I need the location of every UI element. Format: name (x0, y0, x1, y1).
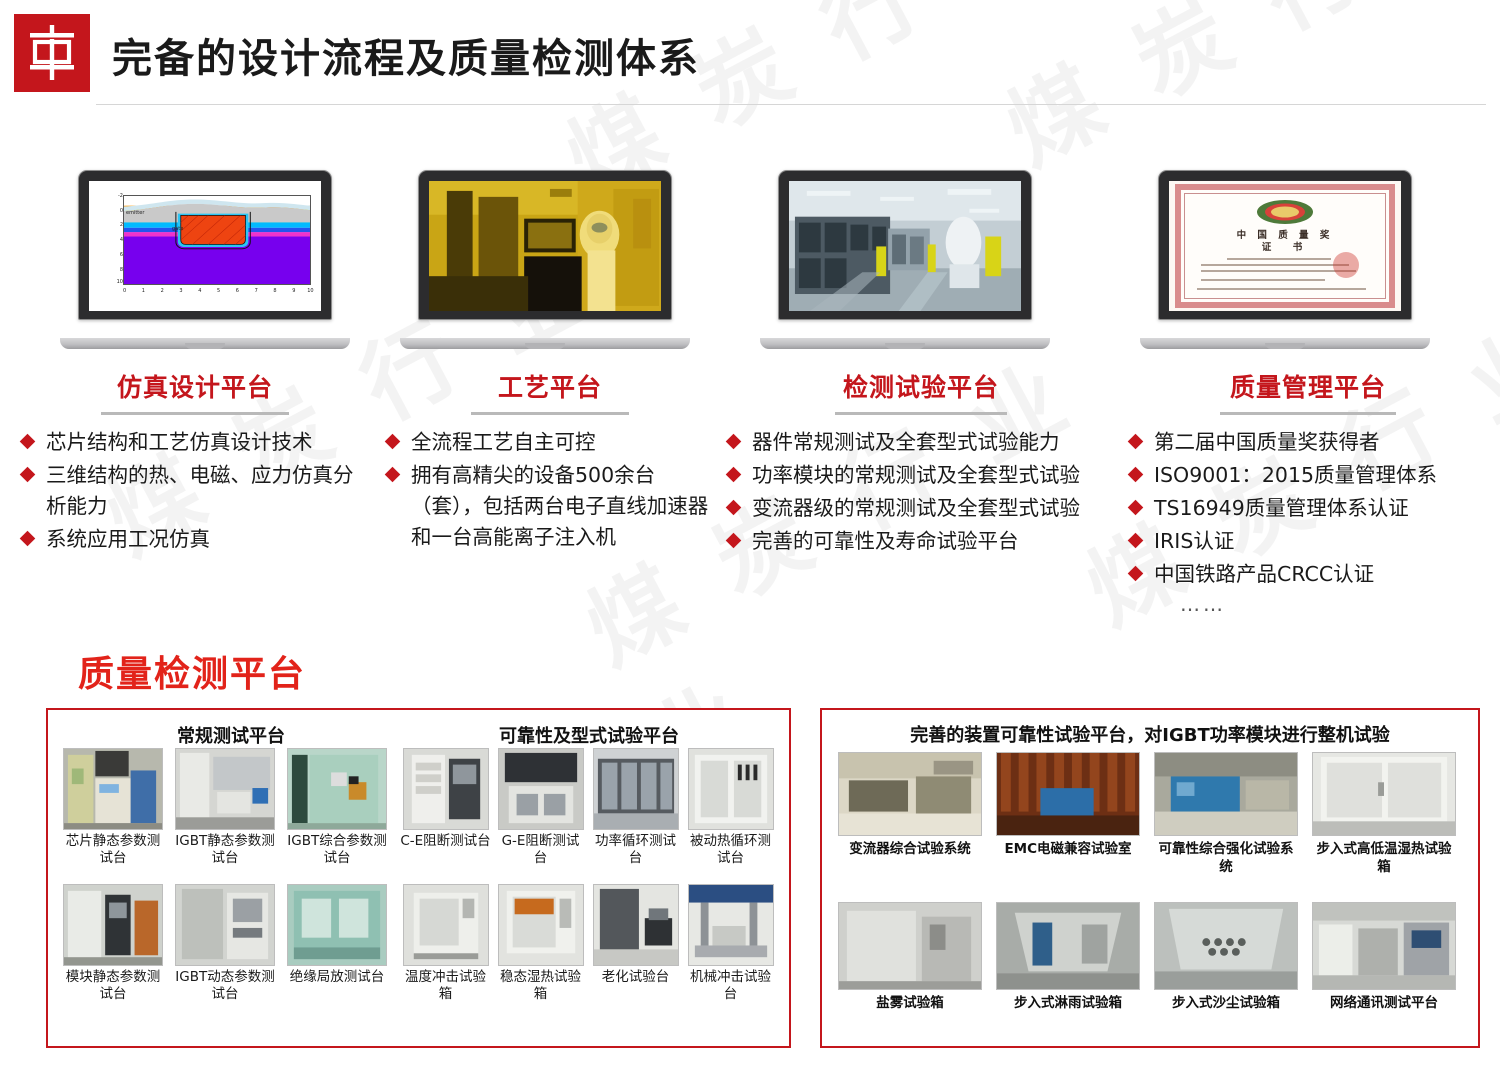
equipment-label: 绝缘局放测试台 (284, 969, 390, 986)
equipment-label: 功率循环测试台 (590, 833, 681, 867)
laptop-screen: 中 国 质 量 奖 证 书 (1169, 181, 1401, 311)
equipment-thumbnail (175, 884, 275, 966)
bullet-item: 中国铁路产品CRCC认证 (1128, 559, 1488, 590)
equipment-label: 机械冲击试验台 (685, 969, 776, 1003)
x-tick: 4 (198, 288, 201, 294)
bullet-text: 变流器级的常规测试及全套型式试验 (752, 496, 1080, 520)
bullet-item: 芯片结构和工艺仿真设计技术 (20, 427, 370, 458)
diamond-bullet-icon (1128, 500, 1144, 516)
column-divider (835, 412, 1007, 415)
bullet-item: 全流程工艺自主可控 (385, 427, 715, 458)
list-item[interactable]: C-E阻断测试台 (400, 748, 491, 867)
equipment-thumbnail (498, 884, 584, 966)
column-title: 仿真设计平台 (20, 368, 370, 404)
equipment-label: 变流器综合试验系统 (836, 840, 984, 858)
list-item[interactable]: 变流器综合试验系统 (836, 752, 984, 876)
bullet-item: IRIS认证 (1128, 526, 1488, 557)
equipment-thumbnail (1312, 902, 1456, 990)
regular-row1: 芯片静态参数测试台 IGBT静态参数测试台 (60, 748, 394, 867)
x-tick: 7 (255, 288, 258, 294)
equipment-thumbnail (287, 748, 387, 830)
laptop-certificate: 中 国 质 量 奖 证 书 (1140, 170, 1430, 355)
equipment-thumbnail (175, 748, 275, 830)
equipment-thumbnail (498, 748, 584, 830)
list-item[interactable]: 芯片静态参数测试台 (60, 748, 166, 867)
list-item[interactable]: 盐雾试验箱 (836, 902, 984, 1012)
right-row2: 盐雾试验箱 步入式淋雨试验箱 (836, 902, 1468, 1012)
bullet-text: ISO9001：2015质量管理体系 (1154, 463, 1437, 487)
diamond-bullet-icon (726, 467, 742, 483)
bullet-text: 中国铁路产品CRCC认证 (1154, 562, 1374, 586)
bullet-item: ISO9001：2015质量管理体系 (1128, 460, 1488, 491)
list-item[interactable]: 机械冲击试验台 (685, 884, 776, 1003)
bullet-text: TS16949质量管理体系认证 (1154, 496, 1409, 520)
list-item[interactable]: G-E阻断测试台 (495, 748, 586, 867)
bullet-text: 三维结构的热、电磁、应力仿真分析能力 (46, 463, 354, 518)
laptop-notch (1265, 343, 1305, 349)
y-tick: 2 (120, 222, 123, 228)
laptop-testlab (760, 170, 1050, 355)
equipment-thumbnail (403, 748, 489, 830)
column-divider (1220, 412, 1396, 415)
column-divider (101, 412, 289, 415)
equipment-label: 步入式高低温湿热试验箱 (1310, 840, 1458, 876)
x-tick: 8 (273, 288, 276, 294)
diamond-bullet-icon (20, 467, 36, 483)
diamond-bullet-icon (1128, 566, 1144, 582)
diamond-bullet-icon (20, 531, 36, 547)
laptop-notch (885, 343, 925, 349)
certificate-title-line2: 证 书 (1185, 239, 1385, 253)
list-item[interactable]: 网络通讯测试平台 (1310, 902, 1458, 1012)
equipment-thumbnail (287, 884, 387, 966)
equipment-label: EMC电磁兼容试验室 (994, 840, 1142, 858)
laptop-notch (185, 343, 225, 349)
bullet-text: 完善的可靠性及寿命试验平台 (752, 529, 1019, 553)
list-item[interactable]: IGBT动态参数测试台 (172, 884, 278, 1003)
bullet-text: 系统应用工况仿真 (46, 527, 210, 551)
crrc-logo (14, 14, 90, 92)
laptop-lid: 中 国 质 量 奖 证 书 (1158, 170, 1412, 320)
laptop-gallery: emitter gate -2 0 2 4 6 8 10 0 1 (0, 170, 1500, 365)
laptop-lid: emitter gate -2 0 2 4 6 8 10 0 1 (78, 170, 332, 320)
cleanroom-photo (429, 181, 661, 311)
bullet-text: IRIS认证 (1154, 529, 1234, 553)
simulation-plot: emitter gate -2 0 2 4 6 8 10 0 1 (89, 181, 321, 311)
quality-test-panel-left: 常规测试平台 可靠性及型式试验平台 芯片静态参数测试台 (46, 708, 791, 1048)
equipment-label: 盐雾试验箱 (836, 994, 984, 1012)
list-item[interactable]: IGBT综合参数测试台 (284, 748, 390, 867)
diamond-bullet-icon (385, 434, 401, 450)
equipment-thumbnail (593, 748, 679, 830)
plot-axes: emitter gate (123, 195, 311, 285)
list-item[interactable]: 温度冲击试验箱 (400, 884, 491, 1003)
diamond-bullet-icon (1128, 533, 1144, 549)
equipment-thumbnail (838, 902, 982, 990)
laptop-lid (418, 170, 672, 320)
column-title: 工艺平台 (385, 368, 715, 404)
bullet-list: 第二届中国质量奖获得者 ISO9001：2015质量管理体系 TS16949质量… (1128, 427, 1488, 590)
bullet-item: 功率模块的常规测试及全套型式试验 (726, 460, 1116, 491)
equipment-thumbnail (996, 752, 1140, 836)
equipment-label: 稳态湿热试验箱 (495, 969, 586, 1003)
equipment-thumbnail (593, 884, 679, 966)
bullet-text: 芯片结构和工艺仿真设计技术 (46, 430, 313, 454)
regular-row2: 模块静态参数测试台 IGBT动态参数测试台 (60, 884, 394, 1003)
equipment-thumbnail (1154, 902, 1298, 990)
platform-column-process: 工艺平台 全流程工艺自主可控 拥有高精尖的设备500余台（套），包括两台电子直线… (385, 368, 715, 555)
list-item[interactable]: 模块静态参数测试台 (60, 884, 166, 1003)
reliability-row1: C-E阻断测试台 G-E阻断测试台 (400, 748, 780, 867)
diamond-bullet-icon (385, 467, 401, 483)
right-panel-title: 完善的装置可靠性试验平台，对IGBT功率模块进行整机试验 (822, 710, 1478, 747)
equipment-label: 温度冲击试验箱 (400, 969, 491, 1003)
y-tick: 6 (120, 252, 123, 258)
section-heading: 质量检测平台 (78, 645, 306, 697)
list-item[interactable]: 步入式淋雨试验箱 (994, 902, 1142, 1012)
subsection-title-reliability: 可靠性及型式试验平台 (400, 722, 778, 748)
equipment-label: IGBT动态参数测试台 (172, 969, 278, 1003)
header-divider (96, 104, 1486, 105)
y-tick: 8 (120, 267, 123, 273)
list-item[interactable]: 功率循环测试台 (590, 748, 681, 867)
list-item[interactable]: 步入式高低温湿热试验箱 (1310, 752, 1458, 876)
equipment-label: 芯片静态参数测试台 (60, 833, 166, 867)
award-emblem-icon (1256, 199, 1314, 225)
bullet-list: 全流程工艺自主可控 拥有高精尖的设备500余台（套），包括两台电子直线加速器和一… (385, 427, 715, 553)
plot-x-ticks: 0 1 2 3 4 5 6 7 8 9 10 (123, 288, 311, 298)
x-tick: 0 (123, 288, 126, 294)
column-title: 检测试验平台 (726, 368, 1116, 404)
equipment-label: C-E阻断测试台 (400, 833, 491, 850)
equipment-label: 老化试验台 (590, 969, 681, 986)
certificate-seal (1333, 252, 1359, 278)
crrc-logo-icon (14, 14, 90, 92)
x-tick: 2 (161, 288, 164, 294)
more-indicator: …… (1128, 592, 1488, 616)
diamond-bullet-icon (1128, 434, 1144, 450)
bullet-item: 器件常规测试及全套型式试验能力 (726, 427, 1116, 458)
bullet-list: 芯片结构和工艺仿真设计技术 三维结构的热、电磁、应力仿真分析能力 系统应用工况仿… (20, 427, 370, 555)
page-title: 完备的设计流程及质量检测体系 (112, 26, 700, 84)
platform-column-quality: 质量管理平台 第二届中国质量奖获得者 ISO9001：2015质量管理体系 TS… (1128, 368, 1488, 616)
laptop-screen (789, 181, 1021, 311)
equipment-thumbnail (1154, 752, 1298, 836)
bullet-item: 系统应用工况仿真 (20, 524, 370, 555)
equipment-label: 步入式淋雨试验箱 (994, 994, 1142, 1012)
right-row1: 变流器综合试验系统 (836, 752, 1468, 876)
bullet-item: 变流器级的常规测试及全套型式试验 (726, 493, 1116, 524)
column-divider (471, 412, 629, 415)
reliability-row2: 温度冲击试验箱 稳态湿热试验箱 (400, 884, 780, 1003)
list-item[interactable]: 稳态湿热试验箱 (495, 884, 586, 1003)
list-item[interactable]: IGBT静态参数测试台 (172, 748, 278, 867)
diamond-bullet-icon (726, 500, 742, 516)
bullet-item: 拥有高精尖的设备500余台（套），包括两台电子直线加速器和一台高能离子注入机 (385, 460, 715, 553)
equipment-thumbnail (838, 752, 982, 836)
equipment-thumbnail (403, 884, 489, 966)
bullet-text: 功率模块的常规测试及全套型式试验 (752, 463, 1080, 487)
equipment-label: 步入式沙尘试验箱 (1152, 994, 1300, 1012)
list-item[interactable]: 老化试验台 (590, 884, 681, 1003)
y-tick: 0 (120, 208, 123, 214)
page-header: 完备的设计流程及质量检测体系 (0, 0, 1500, 108)
bullet-list: 器件常规测试及全套型式试验能力 功率模块的常规测试及全套型式试验 变流器级的常规… (726, 427, 1116, 557)
laptop-screen: emitter gate -2 0 2 4 6 8 10 0 1 (89, 181, 321, 311)
list-item[interactable]: 可靠性综合强化试验系统 (1152, 752, 1300, 876)
diamond-bullet-icon (726, 434, 742, 450)
list-item[interactable]: EMC电磁兼容试验室 (994, 752, 1142, 876)
test-lab-photo (789, 181, 1021, 311)
equipment-label: 被动热循环测试台 (685, 833, 776, 867)
diamond-bullet-icon (726, 533, 742, 549)
list-item[interactable]: 绝缘局放测试台 (284, 884, 390, 1003)
laptop-cleanroom (400, 170, 690, 355)
bullet-item: 三维结构的热、电磁、应力仿真分析能力 (20, 460, 370, 522)
y-tick: -2 (118, 193, 123, 199)
equipment-thumbnail (1312, 752, 1456, 836)
bullet-item: 完善的可靠性及寿命试验平台 (726, 526, 1116, 557)
laptop-simulation: emitter gate -2 0 2 4 6 8 10 0 1 (60, 170, 350, 355)
equipment-label: IGBT综合参数测试台 (284, 833, 390, 867)
laptop-screen (429, 181, 661, 311)
equipment-thumbnail (63, 884, 163, 966)
x-tick: 3 (179, 288, 182, 294)
y-tick: 10 (117, 279, 123, 285)
equipment-thumbnail (63, 748, 163, 830)
x-tick: 9 (292, 288, 295, 294)
list-item[interactable]: 步入式沙尘试验箱 (1152, 902, 1300, 1012)
x-tick: 5 (217, 288, 220, 294)
subsection-title-regular: 常规测试平台 (66, 722, 396, 748)
equipment-label: 网络通讯测试平台 (1310, 994, 1458, 1012)
equipment-thumbnail (688, 884, 774, 966)
equipment-label: 可靠性综合强化试验系统 (1152, 840, 1300, 876)
diamond-bullet-icon (20, 434, 36, 450)
laptop-lid (778, 170, 1032, 320)
plot-annotation-gate: gate (172, 226, 183, 232)
bullet-text: 全流程工艺自主可控 (411, 430, 596, 454)
equipment-label: 模块静态参数测试台 (60, 969, 166, 1003)
equipment-thumbnail (688, 748, 774, 830)
equipment-thumbnail (996, 902, 1140, 990)
x-tick: 6 (236, 288, 239, 294)
equipment-label: G-E阻断测试台 (495, 833, 586, 867)
bullet-text: 第二届中国质量奖获得者 (1154, 430, 1380, 454)
bullet-item: 第二届中国质量奖获得者 (1128, 427, 1488, 458)
equipment-label: IGBT静态参数测试台 (172, 833, 278, 867)
x-tick: 1 (142, 288, 145, 294)
plot-y-ticks: -2 0 2 4 6 8 10 (97, 193, 123, 285)
plot-annotation-emitter: emitter (126, 210, 144, 216)
bullet-text: 器件常规测试及全套型式试验能力 (752, 430, 1060, 454)
y-tick: 4 (120, 237, 123, 243)
reliability-test-panel-right: 完善的装置可靠性试验平台，对IGBT功率模块进行整机试验 变流器综合试验系统 (820, 708, 1480, 1048)
laptop-notch (525, 343, 565, 349)
platform-column-simulation: 仿真设计平台 芯片结构和工艺仿真设计技术 三维结构的热、电磁、应力仿真分析能力 … (20, 368, 370, 557)
column-title: 质量管理平台 (1128, 368, 1488, 404)
bullet-text: 拥有高精尖的设备500余台（套），包括两台电子直线加速器和一台高能离子注入机 (411, 463, 708, 549)
list-item[interactable]: 被动热循环测试台 (685, 748, 776, 867)
bullet-item: TS16949质量管理体系认证 (1128, 493, 1488, 524)
platform-column-testing: 检测试验平台 器件常规测试及全套型式试验能力 功率模块的常规测试及全套型式试验 … (726, 368, 1116, 559)
x-tick: 10 (307, 288, 313, 294)
certificate-photo: 中 国 质 量 奖 证 书 (1169, 181, 1401, 311)
diamond-bullet-icon (1128, 467, 1144, 483)
